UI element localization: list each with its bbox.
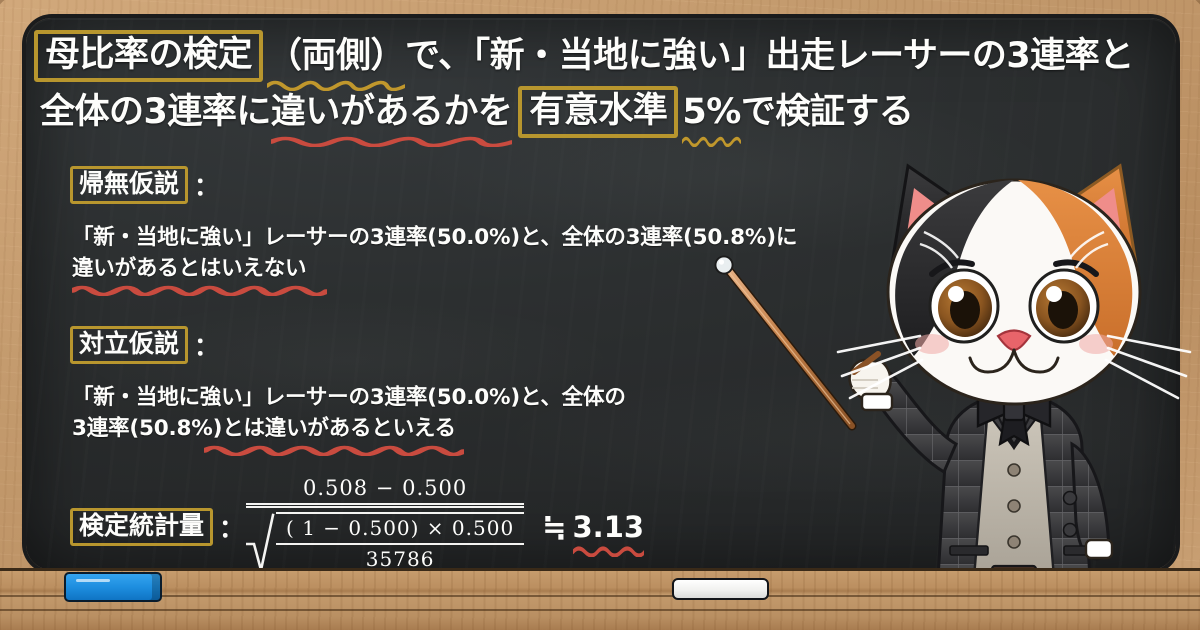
title-block: 母比率の検定 （両側） で、「新・当地に強い」出走レーサーの3連率と 全体の3連… bbox=[34, 30, 1134, 138]
boxed-term-population-proportion-test: 母比率の検定 bbox=[34, 30, 263, 82]
slide-scene: 母比率の検定 （両側） で、「新・当地に強い」出走レーサーの3連率と 全体の3連… bbox=[0, 0, 1200, 630]
alternative-hypothesis-colon: ： bbox=[194, 327, 219, 363]
test-statistic-block: 検定統計量 ： 0.508 − 0.500 ( 1 − 0.500) × 0.5… bbox=[70, 476, 644, 578]
null-hypothesis-colon: ： bbox=[194, 167, 219, 203]
title-line-2: 全体の3連率に 違いがあるかを 有意水準 5% で検証する bbox=[34, 86, 1134, 138]
title-line-1-rest: で、「新・当地に強い」出走レーサーの3連率と bbox=[405, 32, 1134, 80]
chalk-tray bbox=[0, 568, 1200, 630]
boxed-term-significance-level: 有意水準 bbox=[518, 86, 678, 138]
boxed-label-test-statistic: 検定統計量 bbox=[70, 508, 213, 546]
red-wavy-underline-icon-4 bbox=[204, 444, 464, 456]
alternative-hypothesis-line-2-wrap: 3連率(50.8%)とは違いがあるといえる bbox=[72, 413, 456, 444]
radicand-numerator: ( 1 − 0.500) × 0.500 bbox=[276, 516, 524, 543]
approx-equals-icon: ≒ bbox=[542, 510, 566, 544]
red-wavy-underline-icon-5 bbox=[573, 545, 645, 557]
tray-edge-line-1 bbox=[0, 595, 1200, 597]
test-statistic-colon: ： bbox=[219, 509, 244, 545]
null-hypothesis-line-2: 違いがあるとはいえない bbox=[72, 256, 306, 281]
alternative-hypothesis-line-2: 3連率(50.8%)とは違いがあるといえる bbox=[72, 416, 456, 441]
title-underlined-two-sided: （両側） bbox=[267, 32, 405, 80]
alternative-hypothesis-line-1: 「新・当地に強い」レーサーの3連率(50.0%)と、全体の bbox=[72, 382, 626, 413]
white-chalk-stick[interactable] bbox=[672, 578, 769, 600]
red-wavy-underline-icon bbox=[271, 135, 513, 147]
fraction-numerator: 0.508 − 0.500 bbox=[289, 476, 481, 503]
title-underlined-difference: 違いがあるかを bbox=[271, 88, 513, 136]
test-statistic-result: ≒ 3.13 bbox=[542, 510, 644, 544]
calico-cat-teacher-mascot bbox=[828, 148, 1200, 578]
cat-head bbox=[838, 166, 1190, 404]
title-line-2-rest: で検証する bbox=[741, 88, 914, 136]
blackboard-eraser[interactable] bbox=[64, 572, 162, 602]
boxed-label-null-hypothesis: 帰無仮説 bbox=[70, 166, 188, 204]
jacket-button bbox=[1064, 524, 1077, 537]
gold-wavy-underline-icon-2 bbox=[682, 135, 740, 147]
alternative-hypothesis-label-row: 対立仮説 ： bbox=[70, 326, 221, 364]
red-wavy-underline-icon-3 bbox=[72, 284, 327, 296]
jacket-button bbox=[1064, 492, 1077, 505]
null-hypothesis-line-2-wrap: 違いがあるとはいえない bbox=[72, 253, 306, 284]
null-hypothesis-text: 「新・当地に強い」レーサーの3連率(50.0%)と、全体の3連率(50.8%)に… bbox=[72, 222, 797, 284]
radical-icon bbox=[246, 512, 276, 574]
boxed-label-alternative-hypothesis: 対立仮説 bbox=[70, 326, 188, 364]
null-hypothesis-label-row: 帰無仮説 ： bbox=[70, 166, 221, 204]
vest-button bbox=[1008, 500, 1020, 512]
tray-wood-grain bbox=[0, 571, 1200, 630]
alternative-hypothesis-text: 「新・当地に強い」レーサーの3連率(50.0%)と、全体の 3連率(50.8%)… bbox=[72, 382, 626, 444]
vest-button bbox=[1008, 536, 1020, 548]
vest-button bbox=[1008, 464, 1020, 476]
test-statistic-value-wrap: 3.13 bbox=[573, 510, 645, 544]
title-line-1: 母比率の検定 （両側） で、「新・当地に強い」出走レーサーの3連率と bbox=[34, 30, 1134, 82]
test-statistic-fraction: 0.508 − 0.500 ( 1 − 0.500) × 0.500 35786 bbox=[246, 476, 524, 578]
tray-edge-line-2 bbox=[0, 609, 1200, 611]
test-statistic-value: 3.13 bbox=[573, 510, 645, 544]
title-underlined-five-percent: 5% bbox=[682, 88, 740, 136]
title-line-2-before: 全体の3連率に bbox=[40, 88, 271, 136]
cat-paw-holding-pointer bbox=[850, 354, 892, 410]
null-hypothesis-line-1: 「新・当地に強い」レーサーの3連率(50.0%)と、全体の3連率(50.8%)に bbox=[72, 222, 797, 253]
